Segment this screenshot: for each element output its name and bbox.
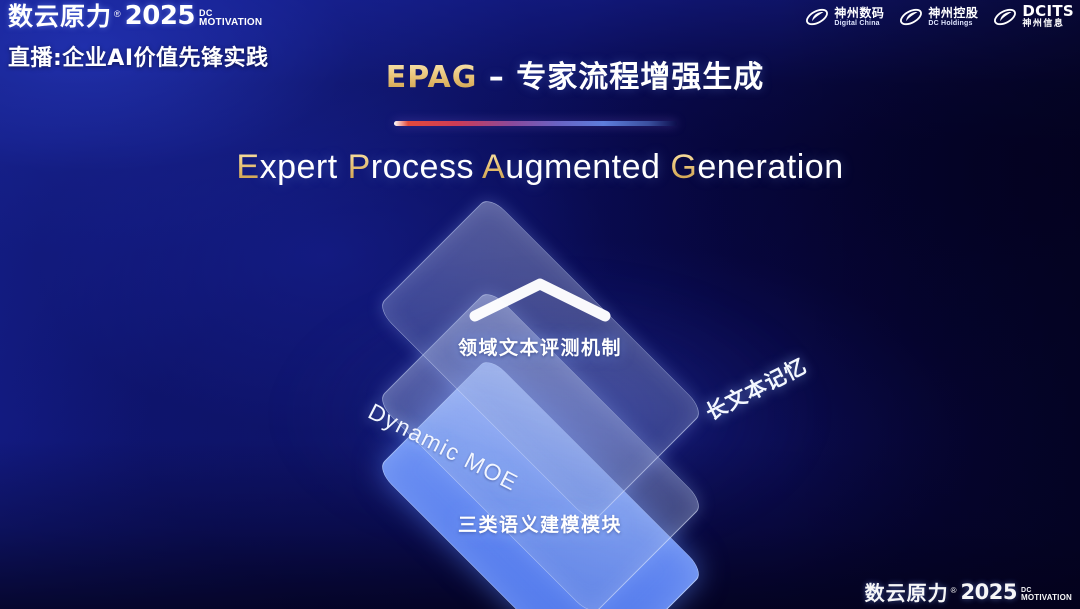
diagram-layer-top [376,195,705,524]
diagram-layer-top-surface [376,195,705,524]
brand-lockup: 数云原力 ® 2025 DC MOTIVATION [8,3,269,29]
subtitle-part: P [348,148,371,186]
partner-text-dc-holdings: 神州控股 DC Holdings [928,7,978,27]
diagram-label-bottom: 三类语义建模模块 [0,510,1080,537]
title-separator: – [477,60,516,95]
registered-mark-icon: ® [114,9,121,19]
diagram-label-top: 领域文本评测机制 [0,333,1080,360]
slide-subtitle: Expert Process Augmented Generation [0,148,1080,187]
swirl-logo-icon [898,4,924,30]
slide-title: EPAG – 专家流程增强生成 [0,52,1080,96]
swirl-logo-icon [992,4,1018,30]
brand-dc-line2: MOTIVATION [199,18,262,28]
diagram-label-middle-right: 长文本记忆 [700,350,812,427]
title-acronym: EPAG [386,60,478,95]
diagram-layer-bottom-surface [376,356,705,609]
brand-dc-motivation: DC MOTIVATION [199,9,262,29]
partner-text-dcits: DCITS 神州信息 [1022,4,1074,29]
partner-name-cn: 神州数码 [834,7,884,20]
partner-text-digital-china: 神州数码 Digital China [834,7,884,27]
partner-name-en: Digital China [834,20,884,27]
partner-name-en: DC Holdings [928,20,978,27]
brand-logo-bottom-right: 数云原力 ® 2025 DC MOTIVATION [865,582,1072,603]
subtitle-part: rocess [371,148,482,186]
subtitle-text: Expert Process Augmented Generation [236,148,843,186]
diagram-label-middle-left: Dynamic MOE [364,398,523,497]
brand-dc-motivation: DC MOTIVATION [1021,587,1072,603]
brand-name-cn: 数云原力 [8,4,112,29]
partner-name-en: DCITS [1022,4,1074,20]
subtitle-part: E [236,148,259,186]
diagram-layer-middle [376,288,705,609]
gradient-divider [394,121,677,126]
brand-name-cn: 数云原力 [865,583,949,603]
brand-dc-line2: MOTIVATION [1021,594,1072,602]
ambient-center-glow [200,210,900,580]
partner-logo-digital-china: 神州数码 Digital China [804,4,884,30]
title-chinese: 专家流程增强生成 [516,60,764,95]
registered-mark-icon: ® [951,586,957,595]
partner-logo-dcits: DCITS 神州信息 [992,4,1074,30]
swirl-logo-icon [804,4,830,30]
partner-logo-dc-holdings: 神州控股 DC Holdings [898,4,978,30]
diagram-layer-middle-surface [376,288,705,609]
diagram-layer-bottom [376,356,705,609]
subtitle-part: xpert [260,148,348,186]
presentation-slide: 数云原力 ® 2025 DC MOTIVATION 直播:企业AI价值先锋实践 … [0,0,1080,609]
partner-name-cn: 神州控股 [928,7,978,20]
subtitle-part: ugmented [505,148,670,186]
subtitle-part: eneration [697,148,843,186]
subtitle-part: A [482,148,505,186]
partner-name-cn: 神州信息 [1022,20,1074,29]
brand-year: 2025 [125,3,195,29]
brand-lockup-watermark: 数云原力 ® 2025 DC MOTIVATION [865,582,1072,603]
partner-logo-bar: 神州数码 Digital China 神州控股 DC Holdings DCIT… [804,4,1074,30]
brand-year: 2025 [961,582,1017,603]
subtitle-part: G [670,148,697,186]
chevron-up-icon [465,272,615,324]
